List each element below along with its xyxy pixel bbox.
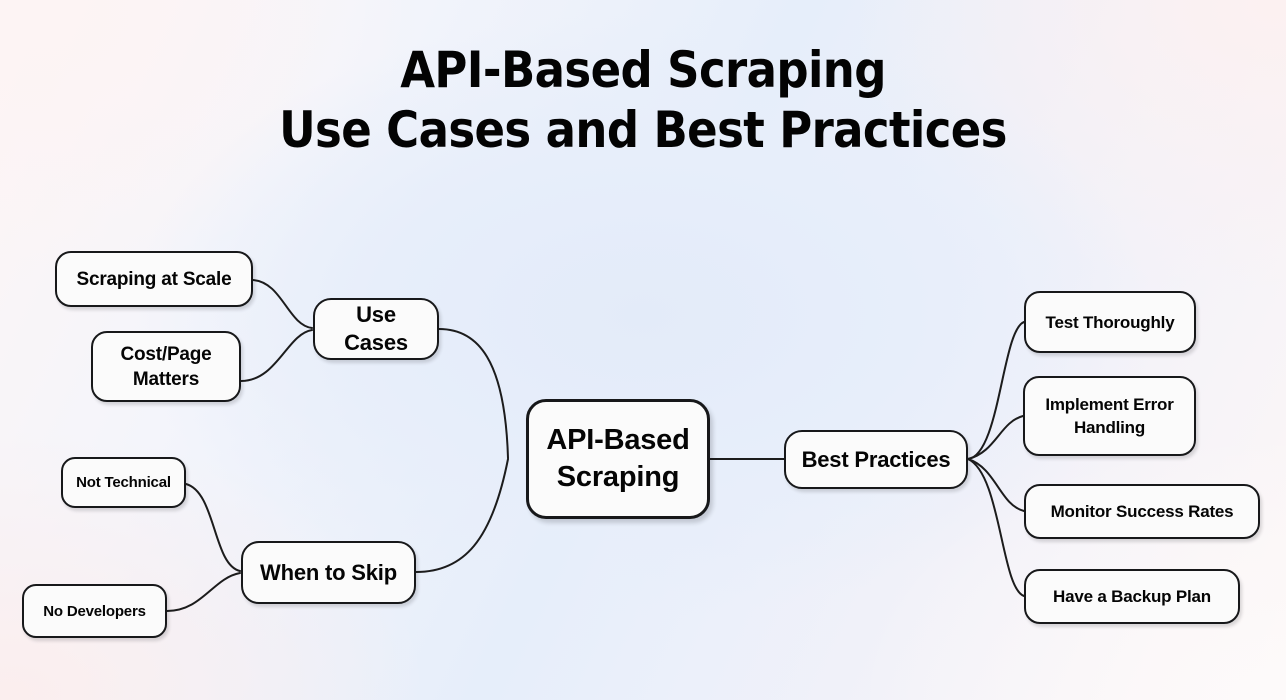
link-whentoskip-root bbox=[416, 459, 508, 572]
link-bestpractices-backup bbox=[968, 459, 1024, 596]
link-bestpractices-test bbox=[968, 322, 1024, 459]
node-when-to-skip[interactable]: When to Skip bbox=[241, 541, 416, 604]
node-not-technical[interactable]: Not Technical bbox=[61, 457, 186, 508]
node-when-to-skip-label: When to Skip bbox=[252, 559, 405, 587]
link-nodevelopers-whentoskip bbox=[167, 573, 240, 611]
node-best-practices-label: Best Practices bbox=[794, 446, 959, 474]
link-usecases-root bbox=[439, 329, 508, 458]
link-nottechnical-whentoskip bbox=[186, 484, 240, 571]
node-test-thoroughly[interactable]: Test Thoroughly bbox=[1024, 291, 1196, 353]
node-monitor-success-rates-label: Monitor Success Rates bbox=[1043, 500, 1242, 523]
node-scraping-at-scale-label: Scraping at Scale bbox=[68, 267, 239, 292]
node-use-cases[interactable]: Use Cases bbox=[313, 298, 439, 360]
node-cost-page-matters-label: Cost/Page Matters bbox=[112, 342, 219, 392]
node-no-developers-label: No Developers bbox=[35, 601, 153, 622]
node-cost-page-matters-line-2: Matters bbox=[133, 369, 199, 390]
title-line-1: API-Based Scraping bbox=[0, 40, 1286, 100]
mindmap-canvas: API-Based Scraping Use Cases and Best Pr… bbox=[0, 0, 1286, 700]
node-implement-error-handling-label: Implement Error Handling bbox=[1037, 393, 1181, 439]
node-root-label: API-Based Scraping bbox=[529, 422, 707, 496]
link-bestpractices-monitor bbox=[968, 459, 1024, 511]
link-bestpractices-errorhandling bbox=[968, 416, 1023, 459]
node-implement-error-handling-line-2: Handling bbox=[1074, 418, 1145, 437]
node-scraping-at-scale[interactable]: Scraping at Scale bbox=[55, 251, 253, 307]
node-implement-error-handling-line-1: Implement Error bbox=[1045, 395, 1173, 414]
node-cost-page-matters[interactable]: Cost/Page Matters bbox=[91, 331, 241, 402]
page-title: API-Based Scraping Use Cases and Best Pr… bbox=[0, 40, 1286, 160]
title-line-2: Use Cases and Best Practices bbox=[0, 100, 1286, 160]
node-monitor-success-rates[interactable]: Monitor Success Rates bbox=[1024, 484, 1260, 539]
node-have-a-backup-plan[interactable]: Have a Backup Plan bbox=[1024, 569, 1240, 624]
node-best-practices[interactable]: Best Practices bbox=[784, 430, 968, 489]
node-test-thoroughly-label: Test Thoroughly bbox=[1038, 311, 1183, 334]
node-root[interactable]: API-Based Scraping bbox=[526, 399, 710, 519]
node-no-developers[interactable]: No Developers bbox=[22, 584, 167, 638]
node-implement-error-handling[interactable]: Implement Error Handling bbox=[1023, 376, 1196, 456]
node-use-cases-label: Use Cases bbox=[315, 301, 437, 357]
link-costpage-usecases bbox=[241, 330, 312, 381]
node-have-a-backup-plan-label: Have a Backup Plan bbox=[1045, 585, 1219, 608]
link-scrapingatscale-usecases bbox=[253, 280, 312, 328]
node-cost-page-matters-line-1: Cost/Page bbox=[120, 344, 211, 365]
node-not-technical-label: Not Technical bbox=[68, 472, 179, 493]
